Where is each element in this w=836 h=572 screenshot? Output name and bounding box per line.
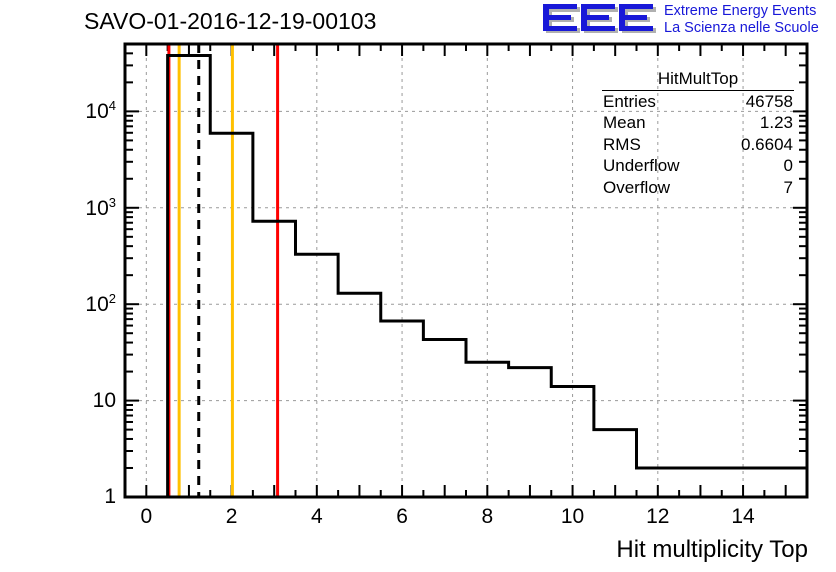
y-tick-label: 103 — [30, 195, 116, 221]
stats-row-value: 1.23 — [760, 112, 793, 133]
x-tick-label: 10 — [561, 505, 584, 529]
x-tick-label: 0 — [140, 505, 152, 529]
x-tick-label: 14 — [731, 505, 754, 529]
y-tick-label: 102 — [30, 291, 116, 317]
stats-box-title: HitMultTop — [600, 68, 796, 89]
stats-row: Mean1.23 — [600, 112, 796, 133]
stats-row-value: 0 — [784, 155, 793, 176]
y-tick-label: 1 — [30, 485, 116, 509]
stats-row-key: Entries — [603, 91, 656, 112]
stats-row-key: Mean — [603, 112, 646, 133]
stats-row: RMS0.6604 — [600, 134, 796, 155]
stats-box: HitMultTop Entries46758Mean1.23RMS0.6604… — [600, 68, 796, 204]
stats-row-value: 7 — [784, 177, 793, 198]
y-tick-label: 104 — [30, 98, 116, 124]
stats-row: Entries46758 — [600, 91, 796, 112]
stats-row-value: 46758 — [746, 91, 793, 112]
stats-box-rows: Entries46758Mean1.23RMS0.6604Underflow0O… — [600, 91, 796, 198]
stats-row-key: RMS — [603, 134, 641, 155]
x-tick-label: 6 — [396, 505, 408, 529]
x-tick-label: 12 — [646, 505, 669, 529]
stats-row-key: Underflow — [603, 155, 680, 176]
stats-row-key: Overflow — [603, 177, 670, 198]
marker-lines — [169, 44, 278, 497]
stats-row: Underflow0 — [600, 155, 796, 176]
x-tick-label: 8 — [481, 505, 493, 529]
stats-row: Overflow7 — [600, 177, 796, 198]
x-tick-label: 4 — [311, 505, 323, 529]
x-tick-label: 2 — [226, 505, 238, 529]
x-axis-title: Hit multiplicity Top — [616, 536, 808, 564]
stats-row-value: 0.6604 — [741, 134, 793, 155]
y-tick-label: 10 — [30, 389, 116, 413]
